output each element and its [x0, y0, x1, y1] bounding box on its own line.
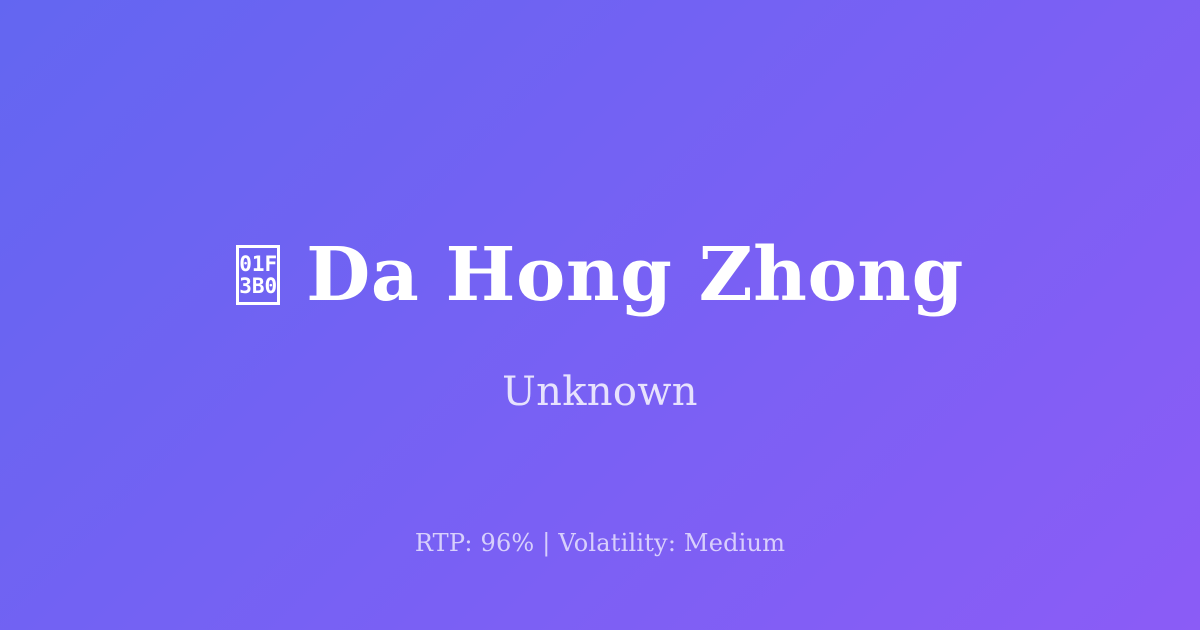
- title-row: 01F 3B0 Da Hong Zhong: [196, 222, 1004, 328]
- page-title: Da Hong Zhong: [306, 236, 964, 314]
- codepoint-high-digits: 01F: [239, 253, 277, 275]
- page-subtitle: Unknown: [502, 368, 698, 416]
- og-card: 01F 3B0 Da Hong Zhong Unknown RTP: 96% |…: [0, 0, 1200, 630]
- hero-block: 01F 3B0 Da Hong Zhong Unknown: [0, 222, 1200, 416]
- codepoint-low-digits: 3B0: [239, 275, 277, 297]
- slot-machine-emoji-icon: 01F 3B0: [236, 245, 280, 305]
- game-meta-line: RTP: 96% | Volatility: Medium: [0, 528, 1200, 558]
